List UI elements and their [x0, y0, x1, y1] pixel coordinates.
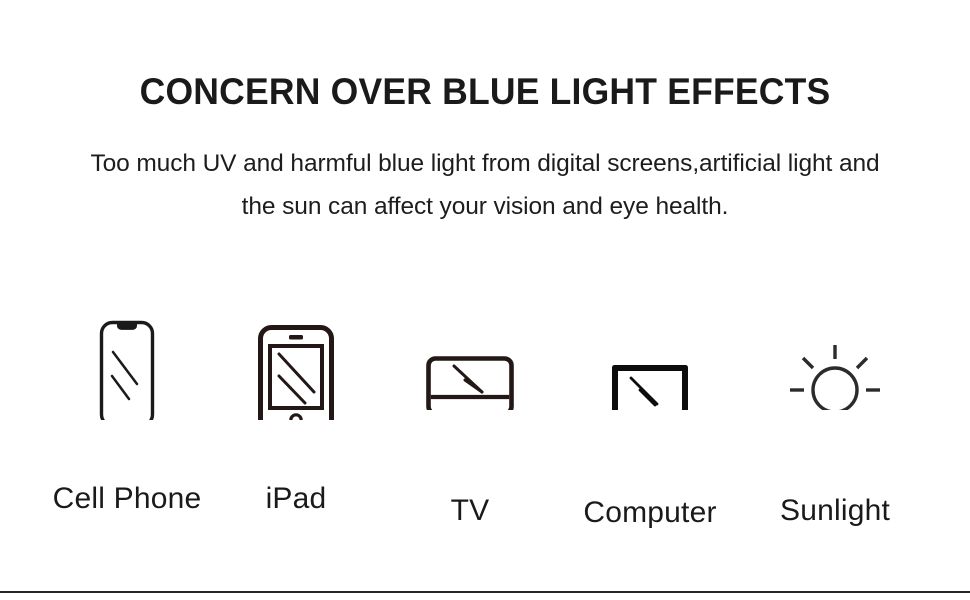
device-item-sunlight: Sunlight: [740, 300, 930, 530]
laptop-icon-wrapper: [555, 300, 745, 440]
sun-icon: [783, 300, 887, 410]
device-item-computer: Computer: [555, 300, 745, 530]
intro-paragraph-line-1: Too much UV and harmful blue light from …: [90, 150, 781, 177]
tablet-icon: [251, 300, 341, 420]
bottom-divider: [0, 591, 970, 593]
monitor-icon: [420, 300, 520, 410]
device-item-tv: TV: [375, 300, 565, 530]
device-icon-row: Cell Phone iPad: [0, 300, 970, 530]
sun-icon-wrapper: [740, 300, 930, 440]
device-label-cell-phone: Cell Phone: [32, 482, 222, 516]
blue-light-info-banner: CONCERN OVER BLUE LIGHT EFFECTS Too much…: [0, 0, 970, 600]
smartphone-icon: [92, 300, 162, 420]
device-label-tv: TV: [375, 494, 565, 528]
intro-paragraph: Too much UV and harmful blue light from …: [79, 142, 891, 228]
device-label-sunlight: Sunlight: [740, 494, 930, 528]
device-label-ipad: iPad: [201, 482, 391, 516]
smartphone-icon-wrapper: [32, 300, 222, 440]
device-item-cell-phone: Cell Phone: [32, 300, 222, 530]
device-label-computer: Computer: [555, 496, 745, 530]
monitor-icon-wrapper: [375, 300, 565, 440]
page-title: CONCERN OVER BLUE LIGHT EFFECTS: [19, 72, 950, 113]
tablet-icon-wrapper: [201, 300, 391, 440]
device-item-ipad: iPad: [201, 300, 391, 530]
laptop-icon: [595, 300, 705, 410]
